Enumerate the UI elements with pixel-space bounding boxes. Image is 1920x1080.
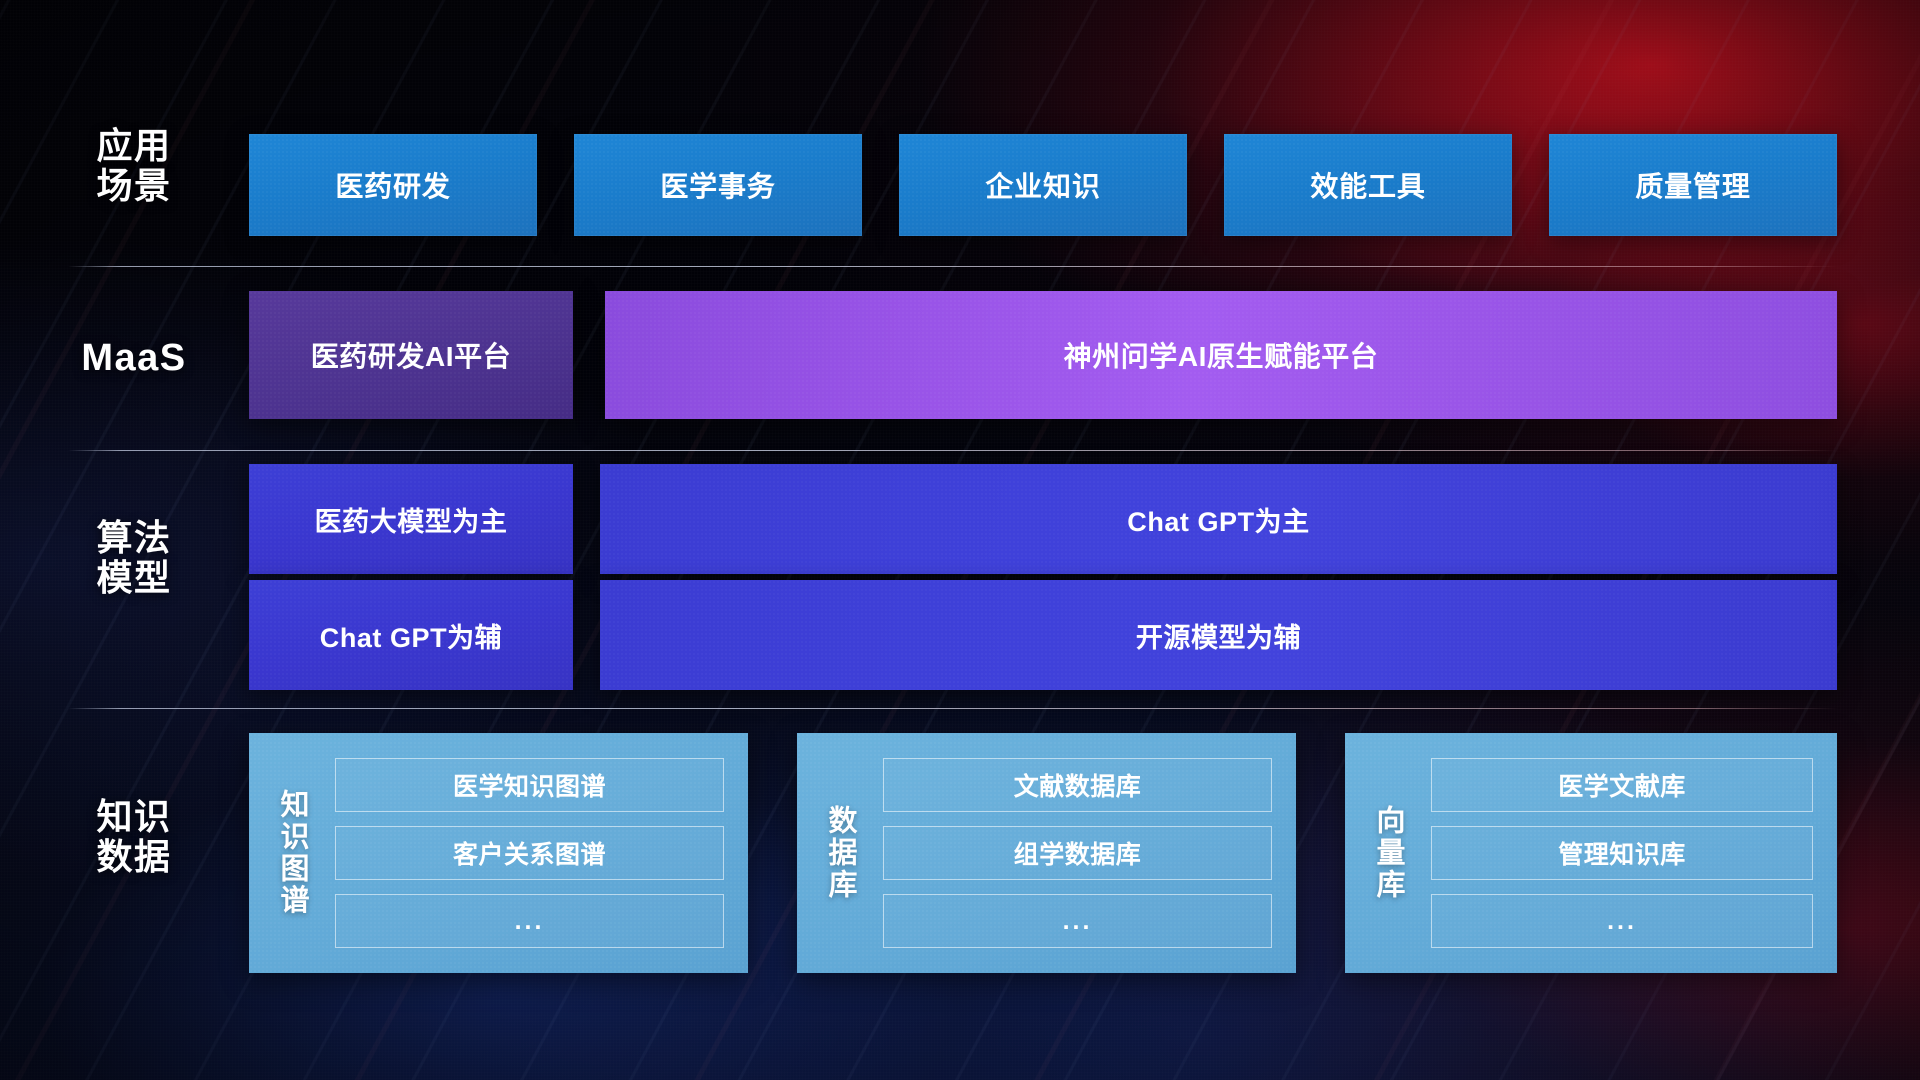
app-box-quality-management[interactable]: 质量管理 [1549, 134, 1837, 236]
app-box-label: 医药研发 [335, 165, 450, 205]
knowledge-item-label: 医学文献库 [1558, 767, 1686, 803]
knowledge-item-label: ... [515, 907, 545, 936]
divider-after-maas [68, 450, 1838, 451]
divider-after-application-scenarios [68, 266, 1838, 267]
knowledge-card-vertical-label: 数据库 [797, 733, 883, 973]
knowledge-item[interactable]: 组学数据库 [883, 826, 1272, 880]
knowledge-item-label: 管理知识库 [1558, 835, 1686, 871]
knowledge-card-item-list: 医学知识图谱 客户关系图谱 ... [335, 733, 748, 973]
knowledge-item-label: ... [1607, 907, 1637, 936]
algo-box-chatgpt-primary[interactable]: Chat GPT为主 [600, 464, 1837, 574]
app-box-medicine-rd[interactable]: 医药研发 [249, 134, 537, 236]
knowledge-card-vertical-label: 知识图谱 [249, 733, 335, 973]
knowledge-card-knowledge-graph[interactable]: 知识图谱 医学知识图谱 客户关系图谱 ... [249, 733, 748, 973]
app-box-label: 质量管理 [1635, 165, 1750, 205]
knowledge-item-more[interactable]: ... [335, 894, 724, 948]
knowledge-item-label: 客户关系图谱 [453, 835, 606, 871]
app-box-label: 效能工具 [1310, 165, 1425, 205]
knowledge-card-item-list: 文献数据库 组学数据库 ... [883, 733, 1296, 973]
knowledge-card-vector-store[interactable]: 向量库 医学文献库 管理知识库 ... [1345, 733, 1837, 973]
algo-box-label: Chat GPT为主 [1127, 500, 1309, 539]
row-label-maas: MaaS [68, 337, 200, 380]
knowledge-card-item-list: 医学文献库 管理知识库 ... [1431, 733, 1837, 973]
row-label-application-scenarios: 应用 场景 [68, 126, 200, 207]
knowledge-card-database[interactable]: 数据库 文献数据库 组学数据库 ... [797, 733, 1296, 973]
maas-banner-shenzhou-wenxue-platform[interactable]: 神州问学AI原生赋能平台 [605, 291, 1837, 419]
knowledge-item[interactable]: 医学文献库 [1431, 758, 1813, 812]
knowledge-item-label: 文献数据库 [1014, 767, 1142, 803]
app-box-efficiency-tools[interactable]: 效能工具 [1224, 134, 1512, 236]
knowledge-item-more[interactable]: ... [883, 894, 1272, 948]
maas-box-medicine-rd-ai-platform[interactable]: 医药研发AI平台 [249, 291, 573, 419]
maas-box-label: 医药研发AI平台 [311, 335, 511, 375]
knowledge-card-vertical-label: 向量库 [1345, 733, 1431, 973]
knowledge-item-more[interactable]: ... [1431, 894, 1813, 948]
algo-box-label: 开源模型为辅 [1136, 616, 1301, 655]
knowledge-item-label: 组学数据库 [1014, 835, 1142, 871]
knowledge-item[interactable]: 医学知识图谱 [335, 758, 724, 812]
app-box-label: 企业知识 [985, 165, 1100, 205]
divider-after-algorithm-model [68, 708, 1838, 709]
diagram-canvas: 应用 场景 医药研发 医学事务 企业知识 效能工具 质量管理 MaaS 医药研发… [0, 0, 1920, 1080]
knowledge-item-label: 医学知识图谱 [453, 767, 606, 803]
app-box-label: 医学事务 [660, 165, 775, 205]
knowledge-item-label: ... [1063, 907, 1093, 936]
app-box-enterprise-knowledge[interactable]: 企业知识 [899, 134, 1187, 236]
knowledge-item[interactable]: 管理知识库 [1431, 826, 1813, 880]
algo-box-label: 医药大模型为主 [315, 500, 508, 539]
algo-box-open-source-secondary[interactable]: 开源模型为辅 [600, 580, 1837, 690]
diagram-content: 应用 场景 医药研发 医学事务 企业知识 效能工具 质量管理 MaaS 医药研发… [0, 0, 1920, 1080]
maas-banner-label: 神州问学AI原生赋能平台 [1064, 335, 1379, 375]
algo-box-chatgpt-secondary[interactable]: Chat GPT为辅 [249, 580, 573, 690]
row-label-algorithm-model: 算法 模型 [68, 518, 200, 599]
app-box-medical-affairs[interactable]: 医学事务 [574, 134, 862, 236]
knowledge-item[interactable]: 客户关系图谱 [335, 826, 724, 880]
algo-box-label: Chat GPT为辅 [320, 616, 502, 655]
knowledge-item[interactable]: 文献数据库 [883, 758, 1272, 812]
row-label-knowledge-data: 知识 数据 [68, 797, 200, 878]
algo-box-medicine-large-model-primary[interactable]: 医药大模型为主 [249, 464, 573, 574]
